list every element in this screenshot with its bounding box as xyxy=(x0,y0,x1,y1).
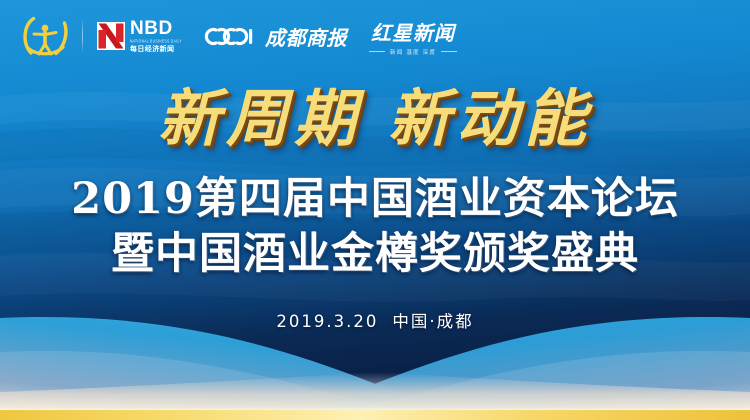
gold-human-figure-icon xyxy=(18,13,72,59)
hongxing-tagline: 新闻 温度 深度 xyxy=(390,48,436,56)
hongxing-news-logo[interactable]: 红星新闻 新闻 温度 深度 xyxy=(369,17,457,56)
logo-divider xyxy=(82,19,83,53)
nbd-chinese-name: 每日经济新闻 xyxy=(130,46,182,53)
cdsb-monogram-icon xyxy=(204,27,258,46)
nbd-acronym: NBD xyxy=(130,19,182,38)
sponsor-logo-bar: NBD NATIONAL BUSINESS DAILY 每日经济新闻 成都商报 … xyxy=(0,0,750,72)
chengdu-business-daily-logo[interactable]: 成都商报 xyxy=(204,22,347,51)
hongxing-tagline-row: 新闻 温度 深度 xyxy=(369,48,457,56)
tagline-rule-right xyxy=(441,51,457,52)
event-poster: NBD NATIONAL BUSINESS DAILY 每日经济新闻 成都商报 … xyxy=(0,0,750,420)
organizer-figure-logo[interactable] xyxy=(18,13,72,59)
nbd-english-name: NATIONAL BUSINESS DAILY xyxy=(130,40,182,44)
hongxing-news-name: 红星新闻 xyxy=(371,17,455,46)
chengdu-business-daily-name: 成都商报 xyxy=(265,22,347,51)
tagline-rule-left xyxy=(369,51,385,52)
nbd-logo[interactable]: NBD NATIONAL BUSINESS DAILY 每日经济新闻 xyxy=(97,19,182,53)
nbd-monogram-icon xyxy=(97,22,125,50)
